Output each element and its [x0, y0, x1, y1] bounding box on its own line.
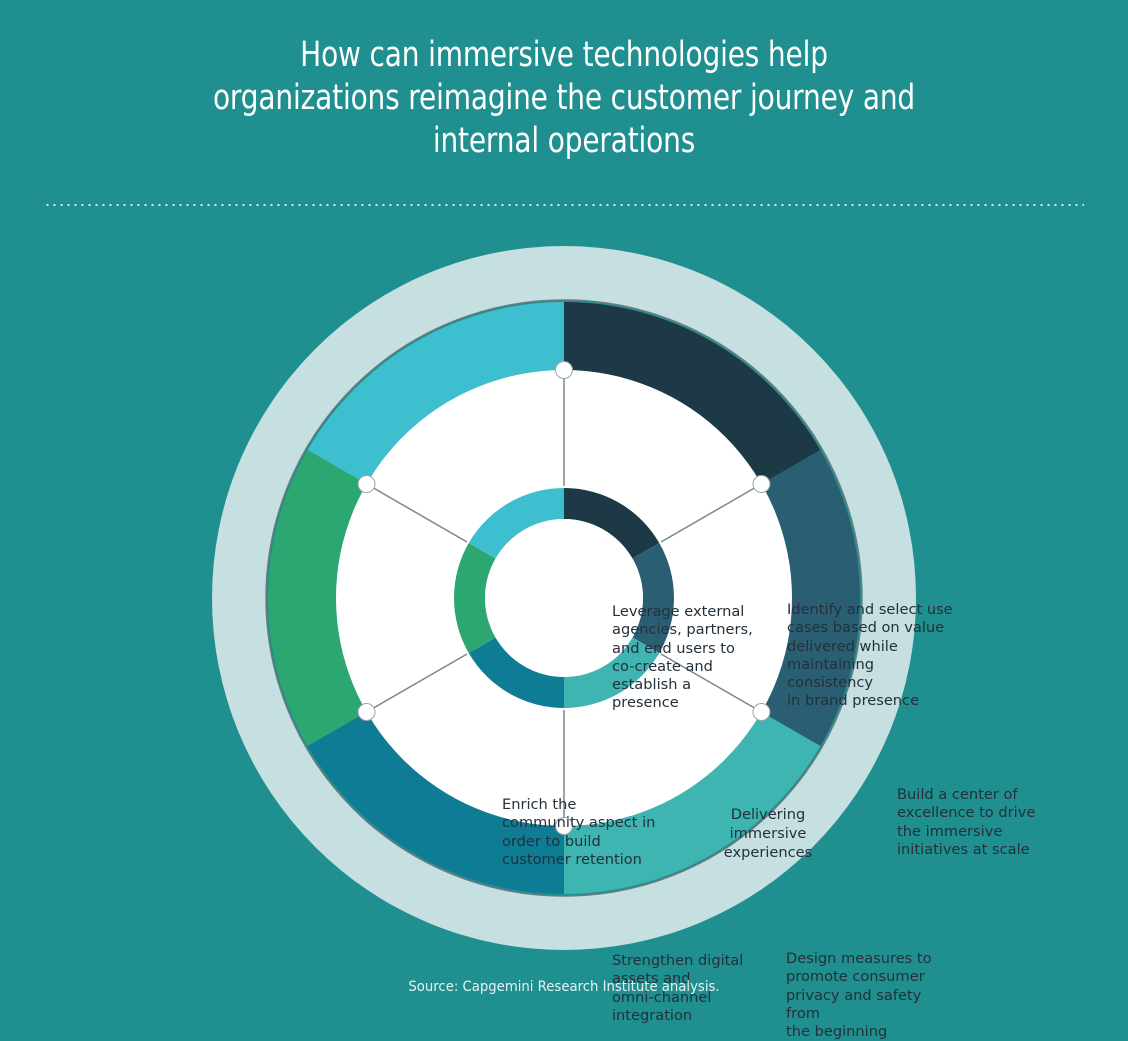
segment-node-dot-0: [556, 362, 573, 379]
segment-label-leverage-external-agencies: Leverage external agencies, partners, an…: [612, 603, 760, 713]
page-title: How can immersive technologies help orga…: [164, 34, 964, 163]
segment-label-design-privacy-measures: Design measures to promote consumer priv…: [786, 950, 958, 1041]
segment-node-dot-4: [358, 704, 375, 721]
segment-node-dot-1: [753, 476, 770, 493]
segment-label-enrich-community-aspect: Enrich the community aspect in order to …: [502, 796, 662, 869]
header: How can immersive technologies help orga…: [64, 34, 1064, 163]
segment-label-build-center-of-excellence: Build a center of excellence to drive th…: [897, 786, 1037, 859]
immersive-wheel-diagram: Identify and select use cases based on v…: [204, 238, 924, 958]
dotted-divider: [44, 202, 1084, 206]
segment-node-dot-5: [358, 476, 375, 493]
wheel-center-label: Delivering immersive experiences: [697, 805, 839, 862]
segment-label-identify-select-use-cases: Identify and select use cases based on v…: [787, 601, 963, 711]
source-note: Source: Capgemini Research Institute ana…: [45, 979, 1083, 995]
